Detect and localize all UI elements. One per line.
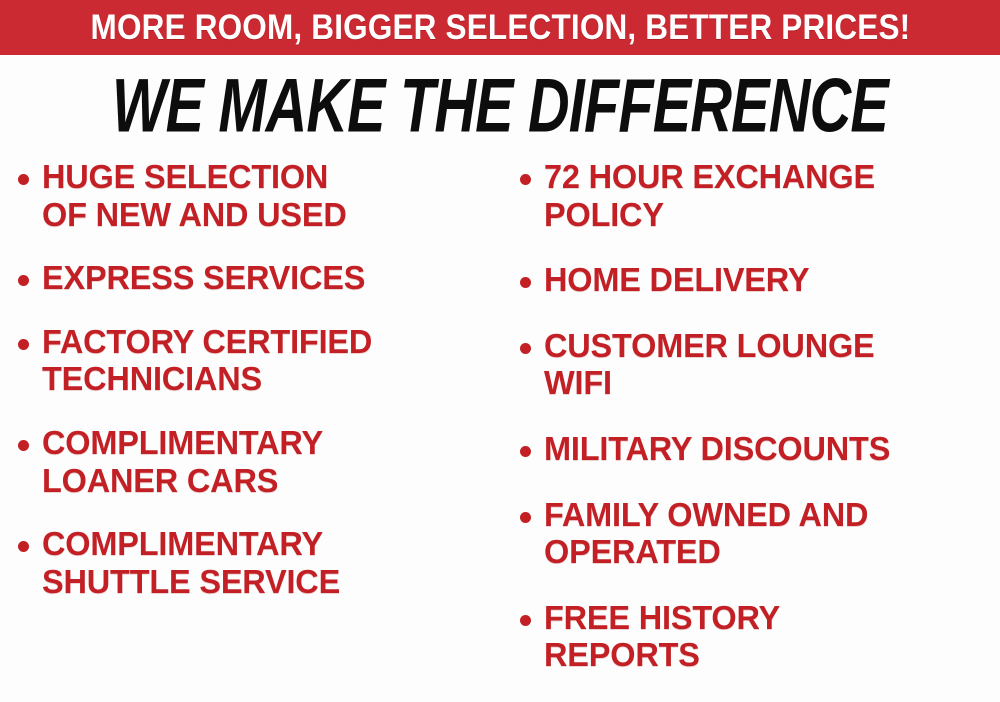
list-item-label: HOME DELIVERY [544, 261, 991, 299]
bullet-dot-icon [18, 440, 29, 451]
list-item-label: FAMILY OWNED AND OPERATED [544, 496, 991, 571]
list-item: HOME DELIVERY [520, 261, 998, 299]
bullet-dot-icon [520, 174, 531, 185]
benefits-column-right: 72 HOUR EXCHANGE POLICY HOME DELIVERY CU… [500, 158, 1000, 702]
list-item-label: CUSTOMER LOUNGE WIFI [544, 327, 991, 402]
list-item: COMPLIMENTARY SHUTTLE SERVICE [18, 525, 496, 600]
bullet-dot-icon [520, 343, 531, 354]
list-item: EXPRESS SERVICES [18, 259, 496, 297]
list-item-label: HUGE SELECTION OF NEW AND USED [42, 158, 489, 233]
bullet-dot-icon [18, 339, 29, 350]
list-item-label: EXPRESS SERVICES [42, 259, 489, 297]
list-item-label: COMPLIMENTARY LOANER CARS [42, 424, 489, 499]
headline: WE MAKE THE DIFFERENCE [0, 68, 1000, 140]
benefits-column-left: HUGE SELECTION OF NEW AND USED EXPRESS S… [0, 158, 500, 626]
bullet-dot-icon [18, 541, 29, 552]
list-item: FACTORY CERTIFIED TECHNICIANS [18, 323, 496, 398]
promo-banner: MORE ROOM, BIGGER SELECTION, BETTER PRIC… [0, 0, 1000, 55]
bullet-dot-icon [520, 277, 531, 288]
bullet-dot-icon [18, 275, 29, 286]
list-item-label: COMPLIMENTARY SHUTTLE SERVICE [42, 525, 489, 600]
list-item: HUGE SELECTION OF NEW AND USED [18, 158, 496, 233]
list-item-label: MILITARY DISCOUNTS [544, 430, 991, 468]
promo-banner-text: MORE ROOM, BIGGER SELECTION, BETTER PRIC… [90, 10, 910, 45]
list-item: CUSTOMER LOUNGE WIFI [520, 327, 998, 402]
list-item: FREE HISTORY REPORTS [520, 599, 998, 674]
bullet-dot-icon [520, 512, 531, 523]
list-item: MILITARY DISCOUNTS [520, 430, 998, 468]
bullet-dot-icon [18, 174, 29, 185]
bullet-dot-icon [520, 446, 531, 457]
list-item-label: FREE HISTORY REPORTS [544, 599, 991, 674]
list-item-label: FACTORY CERTIFIED TECHNICIANS [42, 323, 489, 398]
list-item: 72 HOUR EXCHANGE POLICY [520, 158, 998, 233]
benefits-columns: HUGE SELECTION OF NEW AND USED EXPRESS S… [0, 158, 1000, 694]
list-item-label: 72 HOUR EXCHANGE POLICY [544, 158, 991, 233]
bullet-dot-icon [520, 615, 531, 626]
list-item: COMPLIMENTARY LOANER CARS [18, 424, 496, 499]
list-item: FAMILY OWNED AND OPERATED [520, 496, 998, 571]
headline-text: WE MAKE THE DIFFERENCE [112, 68, 888, 144]
